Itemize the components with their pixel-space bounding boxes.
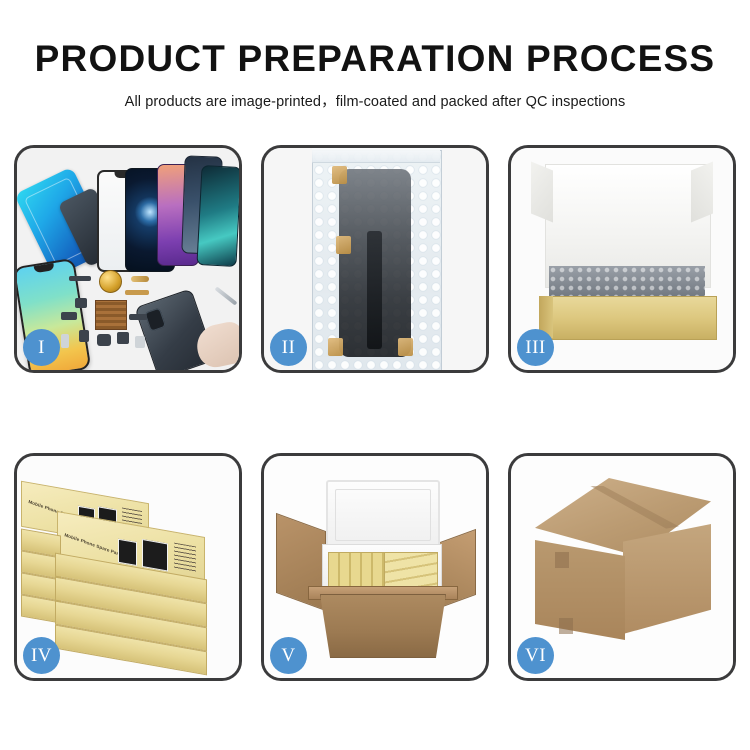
tape-piece-middle: [336, 236, 351, 254]
part-connector-gold: [131, 276, 149, 282]
tweezers-tool: [215, 286, 238, 305]
tape-piece-bottom-right: [398, 338, 413, 356]
part-bracket-b: [79, 330, 89, 342]
inner-box-flap-right: [691, 162, 713, 223]
step-badge-6: VI: [517, 637, 554, 674]
logic-board: [95, 300, 127, 330]
step-panel-4[interactable]: Mobile Phone Spare Parts Mobile Phone Sp…: [14, 453, 242, 681]
part-screw-kit: [135, 336, 145, 348]
kraft-box-tray: [539, 296, 717, 340]
step-badge-5: V: [270, 637, 307, 674]
retail-box-screen-image-4: [142, 539, 168, 572]
step-badge-1: I: [23, 329, 60, 366]
part-sim-tray: [61, 334, 69, 348]
retail-box-spec-lines-front: [174, 543, 196, 573]
step-panel-1[interactable]: I: [14, 145, 242, 373]
sealed-carton-front: [535, 540, 625, 640]
step-panel-5[interactable]: V: [261, 453, 489, 681]
retail-box-stack: Mobile Phone Spare Parts Mobile Phone Sp…: [21, 478, 241, 664]
step-2-photo: II: [264, 148, 486, 370]
step-badge-2: II: [270, 329, 307, 366]
tape-piece-bottom-left: [328, 338, 343, 356]
step-panel-3[interactable]: III: [508, 145, 736, 373]
wrapped-flex-cable: [367, 231, 382, 349]
carton-tab-lower: [559, 618, 573, 634]
tape-piece-top: [332, 166, 347, 184]
step-5-photo: V: [264, 456, 486, 678]
step-4-photo: Mobile Phone Spare Parts Mobile Phone Sp…: [17, 456, 239, 678]
step-6-photo: VI: [511, 456, 733, 678]
carton-tab-upper: [555, 552, 569, 568]
retail-box-screen-image-3: [118, 539, 137, 566]
part-button-set: [117, 332, 129, 344]
process-step-grid: I II III: [14, 145, 736, 685]
part-camera-module: [75, 298, 87, 308]
part-flex-cable: [125, 290, 149, 295]
sealed-carton-side: [623, 524, 711, 634]
part-battery-strip: [69, 276, 91, 281]
grey-bubble-wrap-contents: [549, 266, 705, 300]
foam-box-lid: [326, 480, 440, 550]
page-subtitle: All products are image-printed，film-coat…: [0, 90, 750, 111]
inner-box-flap-left: [531, 162, 553, 223]
step-panel-2[interactable]: II: [261, 145, 489, 373]
page-header: PRODUCT PREPARATION PROCESS All products…: [0, 0, 750, 111]
phone-teal: [196, 165, 241, 267]
step-badge-3: III: [517, 329, 554, 366]
part-antenna: [129, 314, 147, 320]
bag-seal-edge: [312, 148, 440, 163]
step-1-photo: I: [17, 148, 239, 370]
step-badge-4: IV: [23, 637, 60, 674]
carton-body: [320, 594, 446, 658]
step-3-photo: III: [511, 148, 733, 370]
retail-box-label-front: Mobile Phone Spare Parts: [64, 532, 123, 557]
step-panel-6[interactable]: VI: [508, 453, 736, 681]
speaker-module-gold: [99, 270, 122, 293]
page-title: PRODUCT PREPARATION PROCESS: [0, 40, 750, 79]
part-vibration-motor: [97, 334, 111, 346]
part-bracket-a: [61, 312, 77, 320]
